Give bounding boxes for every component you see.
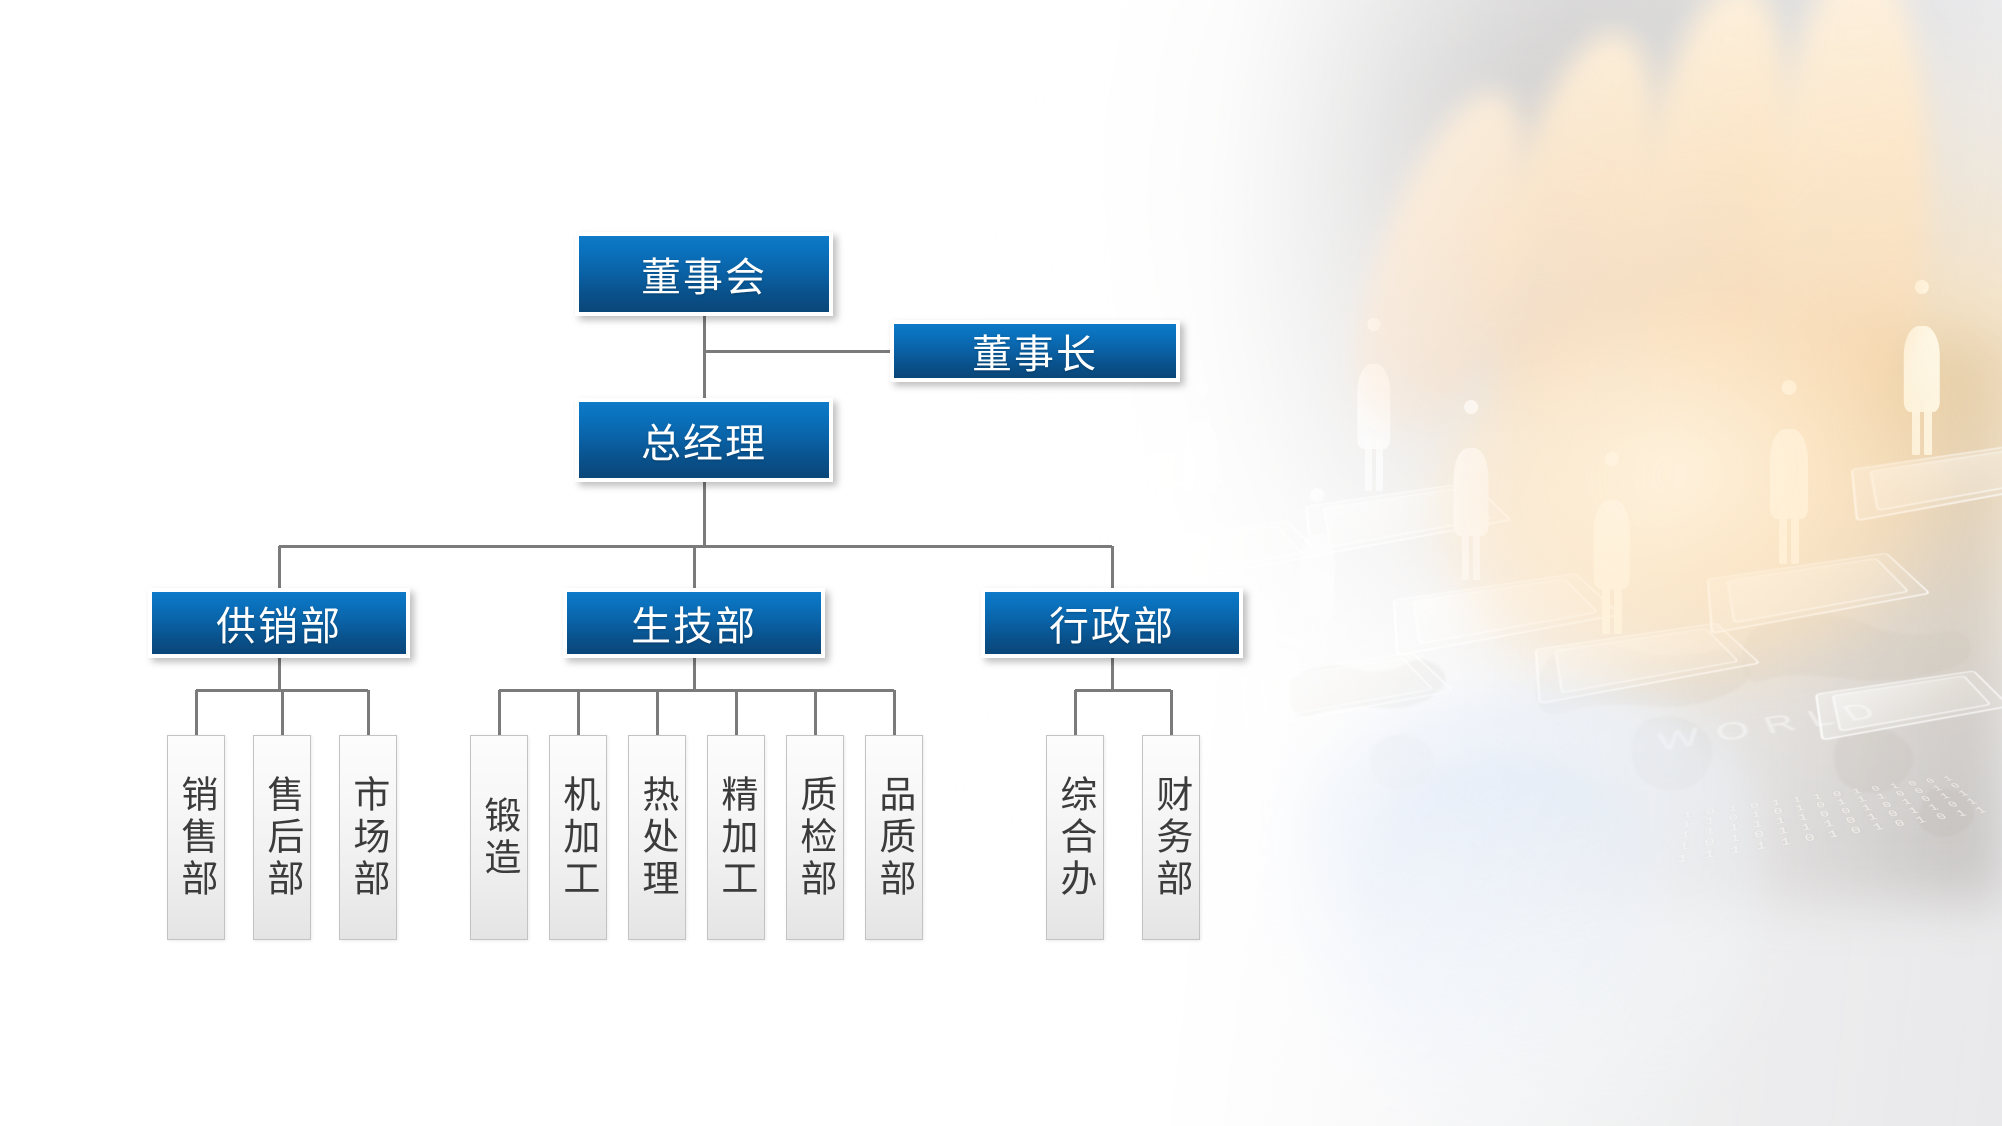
node-board-label: 董事会 xyxy=(641,245,767,303)
connector-vertical xyxy=(577,690,580,735)
node-sub-department[interactable]: 锻造 xyxy=(470,735,528,940)
node-sub-department[interactable]: 品质部 xyxy=(865,735,923,940)
connector-vertical xyxy=(278,658,281,690)
node-sub-department-label: 售后部 xyxy=(260,775,304,901)
node-sub-department[interactable]: 精加工 xyxy=(707,735,765,940)
node-board[interactable]: 董事会 xyxy=(575,232,833,316)
connector-vertical xyxy=(1111,546,1114,588)
node-general-manager[interactable]: 总经理 xyxy=(575,398,833,482)
node-department-label: 供销部 xyxy=(216,594,342,652)
node-sub-department[interactable]: 售后部 xyxy=(253,735,311,940)
node-sub-department-label: 销售部 xyxy=(174,775,218,901)
node-department-label: 行政部 xyxy=(1049,594,1175,652)
node-sub-department-label: 品质部 xyxy=(872,775,916,901)
connector-vertical xyxy=(656,690,659,735)
node-sub-department-label: 机加工 xyxy=(556,775,600,901)
node-department[interactable]: 行政部 xyxy=(981,588,1243,658)
connector-vertical xyxy=(195,690,198,735)
connector-vertical xyxy=(703,316,706,398)
node-sub-department[interactable]: 综合办 xyxy=(1046,735,1104,940)
node-department[interactable]: 生技部 xyxy=(563,588,825,658)
connector-horizontal xyxy=(1075,689,1171,692)
connector-vertical xyxy=(1170,690,1173,735)
node-sub-department[interactable]: 市场部 xyxy=(339,735,397,940)
connector-vertical xyxy=(278,546,281,588)
node-sub-department[interactable]: 质检部 xyxy=(786,735,844,940)
node-sub-department-label: 综合办 xyxy=(1053,775,1097,901)
connector-horizontal xyxy=(704,350,890,353)
connector-vertical xyxy=(735,690,738,735)
connector-vertical xyxy=(1074,690,1077,735)
node-sub-department-label: 精加工 xyxy=(714,775,758,901)
connector-vertical xyxy=(893,690,896,735)
node-sub-department[interactable]: 机加工 xyxy=(549,735,607,940)
node-sub-department[interactable]: 财务部 xyxy=(1142,735,1200,940)
connector-vertical xyxy=(693,658,696,690)
connector-horizontal xyxy=(279,545,1112,548)
connector-vertical xyxy=(703,482,706,546)
node-sub-department-label: 财务部 xyxy=(1149,775,1193,901)
connector-vertical xyxy=(1111,658,1114,690)
node-department[interactable]: 供销部 xyxy=(148,588,410,658)
connector-vertical xyxy=(367,690,370,735)
node-general-manager-label: 总经理 xyxy=(641,411,767,469)
connector-vertical xyxy=(814,690,817,735)
node-sub-department[interactable]: 热处理 xyxy=(628,735,686,940)
org-chart: 董事会 董事长 总经理 供销部销售部售后部市场部生技部锻造机加工热处理精加工质检… xyxy=(0,0,2002,1126)
node-sub-department-label: 市场部 xyxy=(346,775,390,901)
connector-vertical xyxy=(498,690,501,735)
node-sub-department-label: 热处理 xyxy=(635,775,679,901)
node-department-label: 生技部 xyxy=(631,594,757,652)
connector-horizontal xyxy=(499,689,894,692)
node-sub-department[interactable]: 销售部 xyxy=(167,735,225,940)
node-sub-department-label: 锻造 xyxy=(477,796,521,880)
node-chairman-label: 董事长 xyxy=(972,322,1098,380)
node-sub-department-label: 质检部 xyxy=(793,775,837,901)
connector-vertical xyxy=(693,546,696,588)
connector-vertical xyxy=(281,690,284,735)
node-chairman[interactable]: 董事长 xyxy=(890,320,1180,382)
